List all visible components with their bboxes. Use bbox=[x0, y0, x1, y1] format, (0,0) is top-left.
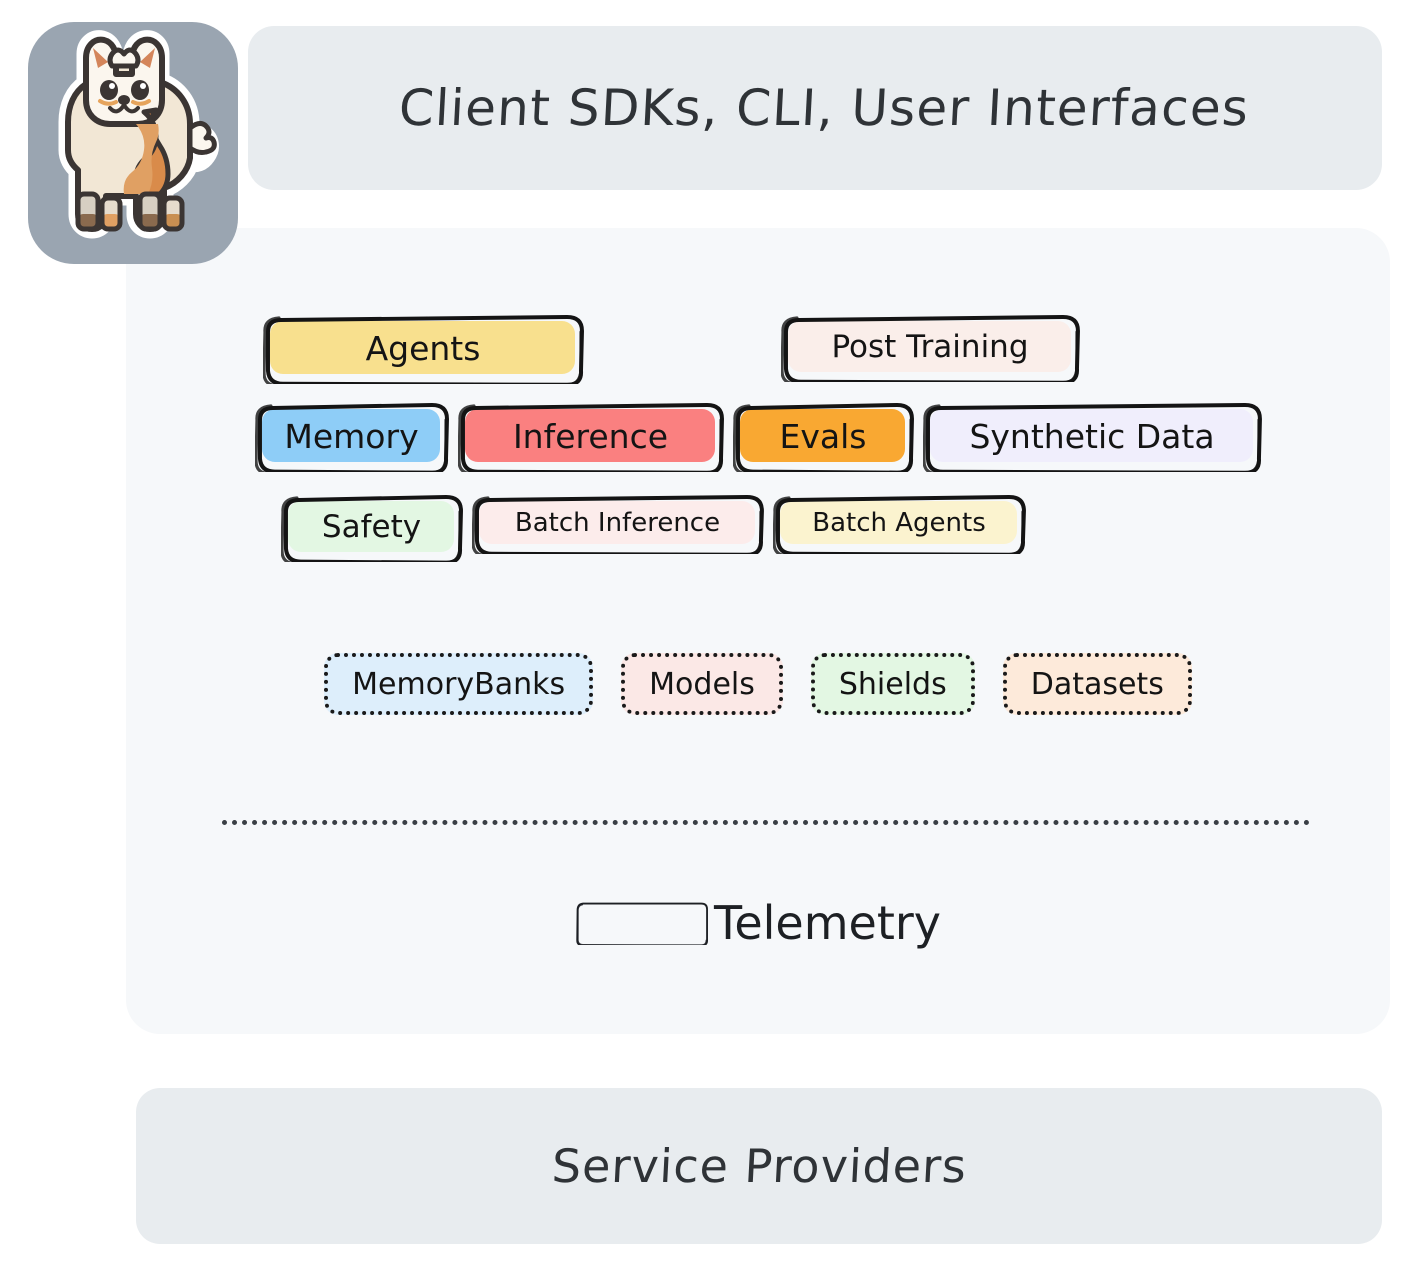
box-label: Synthetic Data bbox=[969, 417, 1214, 456]
resource-chip-label: Shields bbox=[839, 667, 947, 702]
footer-banner: Service Providers bbox=[136, 1088, 1382, 1244]
box-label: Evals bbox=[780, 417, 867, 456]
box-label: Memory bbox=[284, 417, 418, 456]
section-divider bbox=[222, 820, 1310, 825]
resource-chip-shields[interactable]: Shields bbox=[811, 653, 975, 715]
box-label: Safety bbox=[322, 509, 421, 545]
box-label: Inference bbox=[513, 417, 668, 456]
footer-title: Service Providers bbox=[550, 1139, 968, 1193]
api-box-inference[interactable]: Inference bbox=[462, 406, 719, 466]
api-row-bottom: SafetyBatch InferenceBatch Agents bbox=[276, 498, 1030, 556]
api-box-synthetic-data[interactable]: Synthetic Data bbox=[927, 406, 1257, 466]
resource-chip-datasets[interactable]: Datasets bbox=[1003, 653, 1192, 715]
llama-logo-badge bbox=[28, 22, 238, 264]
api-box-memory[interactable]: Memory bbox=[259, 406, 444, 466]
box-label: Batch Inference bbox=[515, 508, 720, 538]
resource-chip-label: MemoryBanks bbox=[352, 667, 565, 702]
telemetry-label: Telemetry bbox=[714, 896, 941, 950]
api-box-post-training[interactable]: Post Training bbox=[785, 318, 1075, 376]
resource-chip-memorybanks[interactable]: MemoryBanks bbox=[324, 653, 593, 715]
api-box-evals[interactable]: Evals bbox=[737, 406, 909, 466]
page-title: Client SDKs, CLI, User Interfaces bbox=[397, 79, 1250, 137]
box-label: Post Training bbox=[831, 329, 1028, 365]
resource-chip-label: Datasets bbox=[1031, 667, 1164, 702]
telemetry-box[interactable]: Telemetry bbox=[575, 868, 941, 978]
llama-stack-panel: AgentsPost Training MemoryInferenceEvals… bbox=[126, 228, 1390, 1034]
resource-row: MemoryBanksModelsShieldsDatasets bbox=[126, 653, 1390, 715]
api-box-batch-inference[interactable]: Batch Inference bbox=[476, 498, 759, 548]
api-box-batch-agents[interactable]: Batch Agents bbox=[777, 498, 1021, 548]
api-box-safety[interactable]: Safety bbox=[285, 498, 458, 556]
box-label: Agents bbox=[366, 329, 481, 368]
resource-chip-models[interactable]: Models bbox=[621, 653, 783, 715]
telemetry-outline bbox=[575, 901, 714, 946]
api-box-agents[interactable]: Agents bbox=[267, 318, 579, 378]
box-label: Batch Agents bbox=[812, 508, 986, 538]
api-row-middle: MemoryInferenceEvalsSynthetic Data bbox=[126, 406, 1390, 466]
header-banner: Client SDKs, CLI, User Interfaces bbox=[248, 26, 1382, 190]
diagram-canvas: Client SDKs, CLI, User Interfaces Agents… bbox=[0, 0, 1410, 1268]
llama-logo-icon bbox=[40, 28, 230, 256]
telemetry-section: Telemetry bbox=[126, 868, 1390, 978]
resource-chip-label: Models bbox=[649, 667, 755, 702]
api-row-top: AgentsPost Training bbox=[258, 318, 1084, 378]
